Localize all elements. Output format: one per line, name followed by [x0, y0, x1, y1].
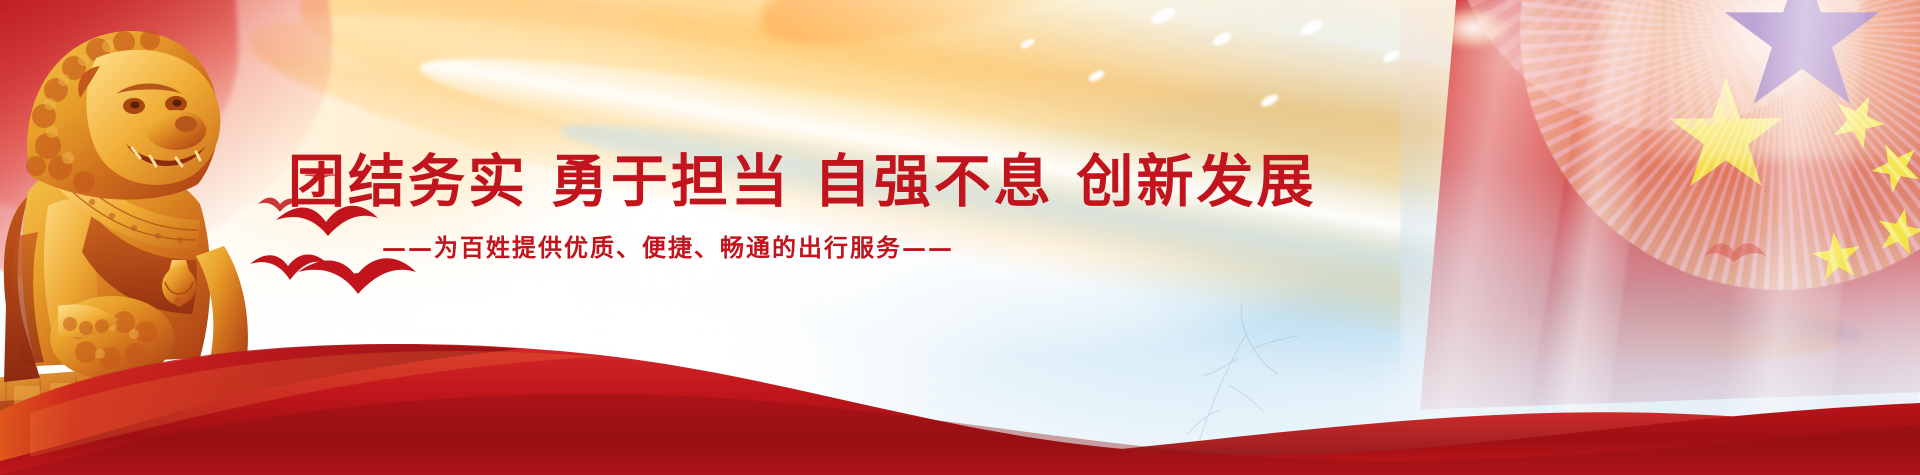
flying-birds-icon: [1700, 228, 1770, 283]
promotional-banner: 团结务实 勇于担当 自强不息 创新发展 ——为百姓提供优质、便捷、畅通的出行服务…: [0, 0, 1920, 475]
page-title: 团结务实 勇于担当 自强不息 创新发展: [288, 152, 1048, 212]
slogan-block: 团结务实 勇于担当 自强不息 创新发展 ——为百姓提供优质、便捷、畅通的出行服务…: [288, 152, 1048, 263]
fan-glow: [1560, 0, 1920, 160]
page-subtitle: ——为百姓提供优质、便捷、畅通的出行服务——: [288, 228, 1048, 263]
red-silk-wave-icon: [0, 285, 1920, 475]
lens-flare-icon: [1438, 8, 1508, 48]
